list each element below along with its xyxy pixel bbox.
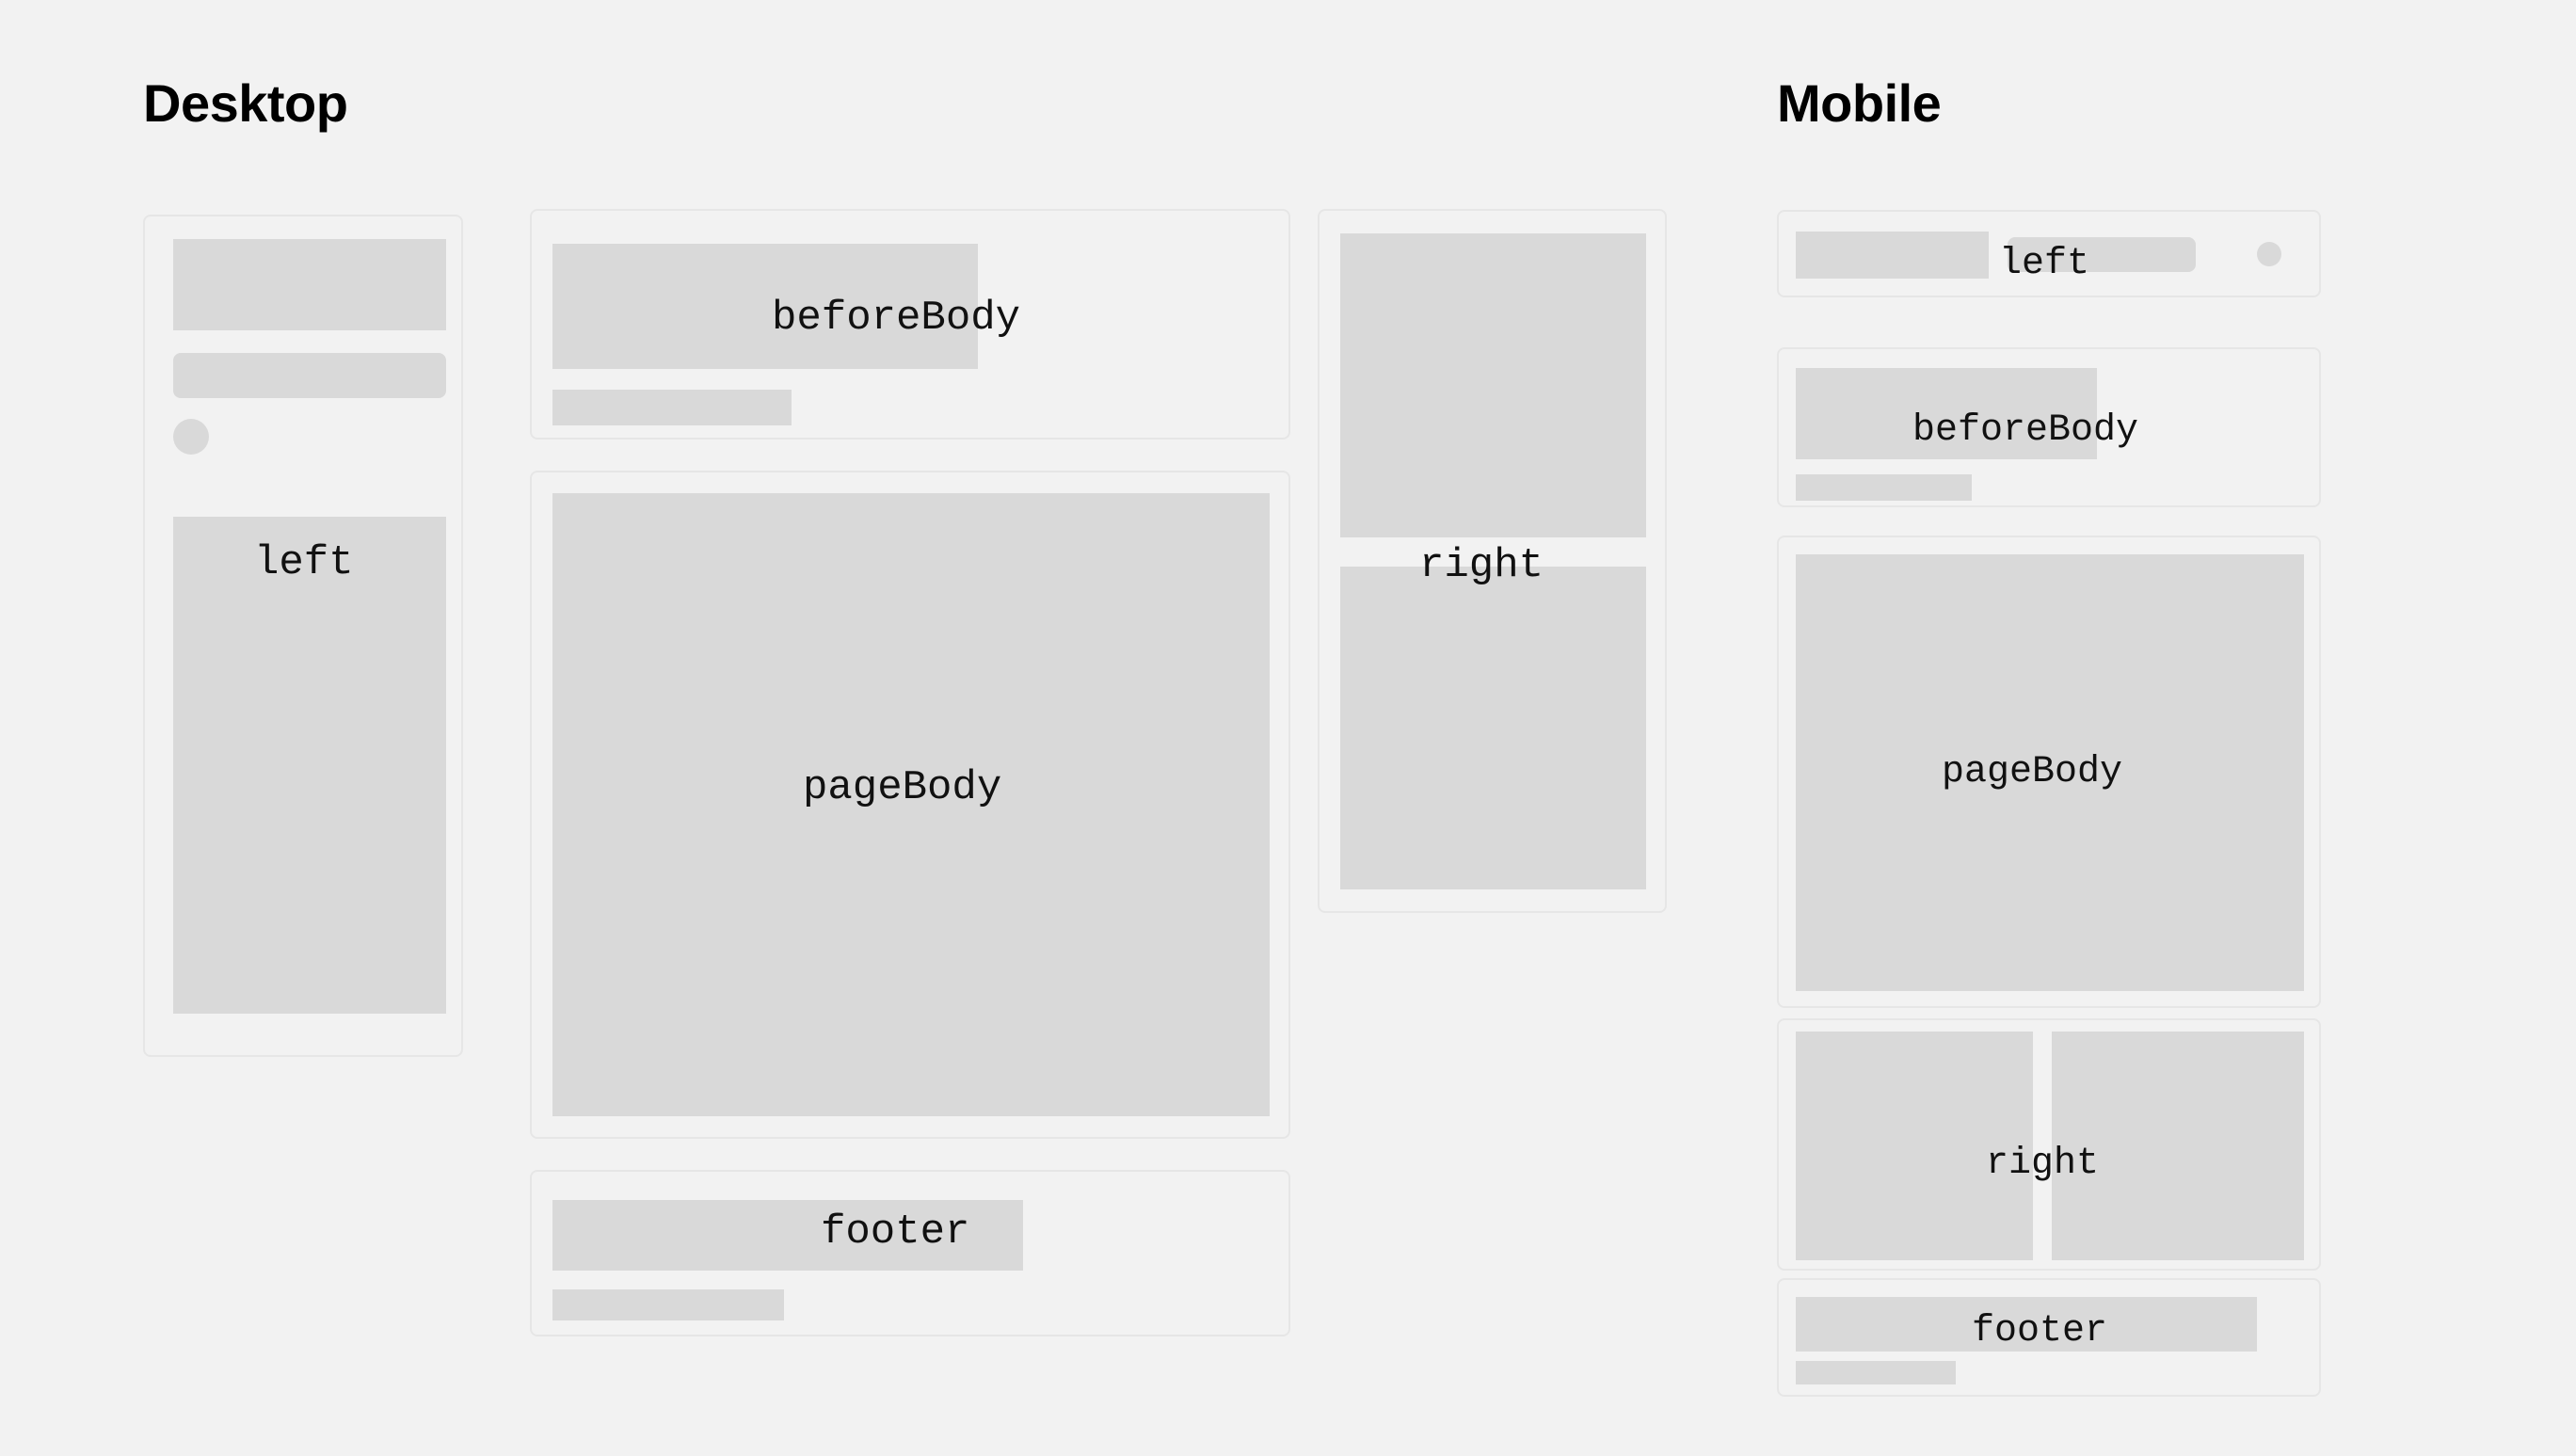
mobile-footer-card[interactable]	[1777, 1278, 2321, 1397]
skeleton-block-large	[1796, 1297, 2257, 1352]
skeleton-block-left	[1796, 1032, 2033, 1260]
desktop-pagebody-card[interactable]	[530, 471, 1290, 1139]
page-title-desktop: Desktop	[143, 77, 347, 130]
skeleton-block-right	[2052, 1032, 2304, 1260]
mobile-pagebody-card[interactable]	[1777, 536, 2321, 1008]
skeleton-bar	[2008, 237, 2196, 272]
skeleton-avatar	[2257, 242, 2281, 266]
skeleton-block-large	[173, 239, 446, 330]
skeleton-block-large	[1796, 232, 1989, 279]
mobile-right-card[interactable]	[1777, 1018, 2321, 1271]
desktop-right-card[interactable]	[1318, 209, 1667, 913]
skeleton-block-page	[552, 493, 1270, 1116]
skeleton-block-lower	[1340, 567, 1646, 889]
mobile-beforebody-card[interactable]	[1777, 347, 2321, 507]
skeleton-block-large	[1796, 368, 2097, 459]
desktop-footer-card[interactable]	[530, 1170, 1290, 1336]
skeleton-block-small	[1796, 1361, 1956, 1384]
skeleton-block-page	[1796, 554, 2304, 991]
mobile-left-card[interactable]	[1777, 210, 2321, 297]
wireframe-canvas: Desktop left beforeBody pageBody right f…	[0, 0, 2576, 1456]
skeleton-block-tall	[173, 517, 446, 1014]
page-title-mobile: Mobile	[1777, 77, 1941, 130]
skeleton-block-large	[552, 244, 978, 369]
skeleton-block-upper	[1340, 233, 1646, 537]
skeleton-bar	[173, 353, 446, 398]
desktop-left-card[interactable]	[143, 215, 463, 1057]
desktop-beforebody-card[interactable]	[530, 209, 1290, 440]
skeleton-block-large	[552, 1200, 1023, 1271]
skeleton-avatar	[173, 419, 209, 455]
skeleton-block-small	[552, 1289, 784, 1320]
skeleton-block-small	[1796, 474, 1972, 501]
skeleton-block-small	[552, 390, 792, 425]
